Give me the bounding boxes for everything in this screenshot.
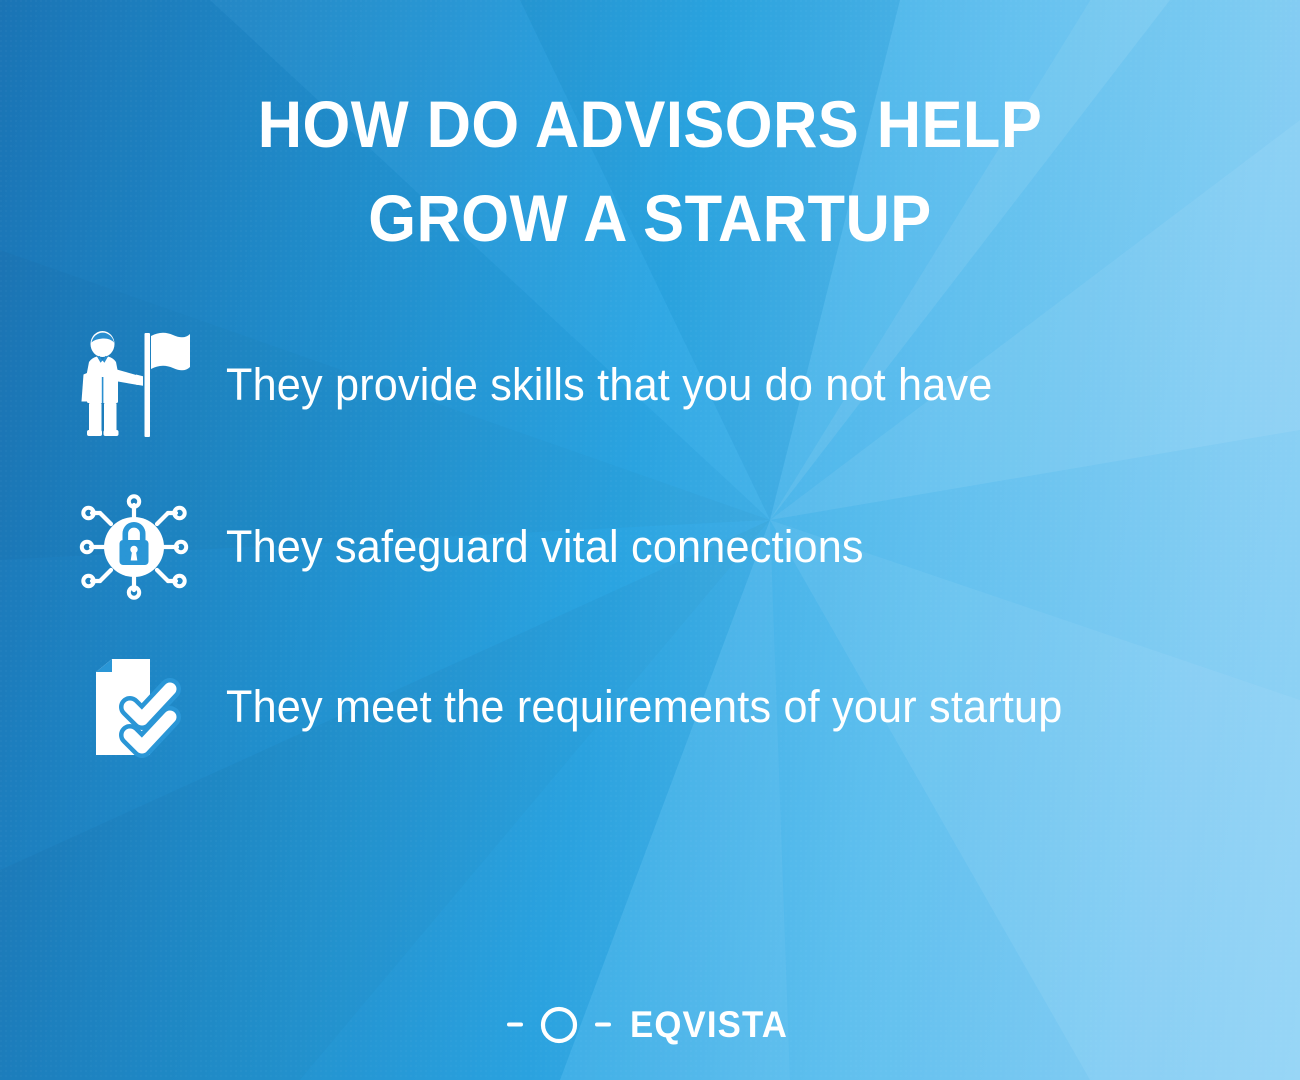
businessman-with-flag-icon (78, 328, 198, 443)
title-line-1: HOW DO ADVISORS HELP (46, 78, 1255, 172)
brand-wordmark: EQVISTA (630, 1004, 788, 1046)
list-item-label: They provide skills that you do not have (226, 360, 993, 410)
list-item: They provide skills that you do not have (78, 325, 1278, 445)
list-item: They meet the requirements of your start… (78, 647, 1278, 767)
list-item: They safeguard vital connections (78, 487, 1278, 607)
infographic-canvas: HOW DO ADVISORS HELP GROW A STARTUP (0, 0, 1300, 1080)
dash-circle-dash-icon (507, 1002, 611, 1048)
list-item-label: They safeguard vital connections (226, 522, 864, 572)
network-padlock-icon (78, 490, 198, 605)
list-item-label: They meet the requirements of your start… (226, 682, 1062, 732)
brand-logo: EQVISTA (0, 1002, 1300, 1048)
page-title: HOW DO ADVISORS HELP GROW A STARTUP (0, 78, 1300, 265)
title-line-2: GROW A STARTUP (46, 172, 1255, 266)
document-checkmarks-icon (78, 650, 198, 765)
